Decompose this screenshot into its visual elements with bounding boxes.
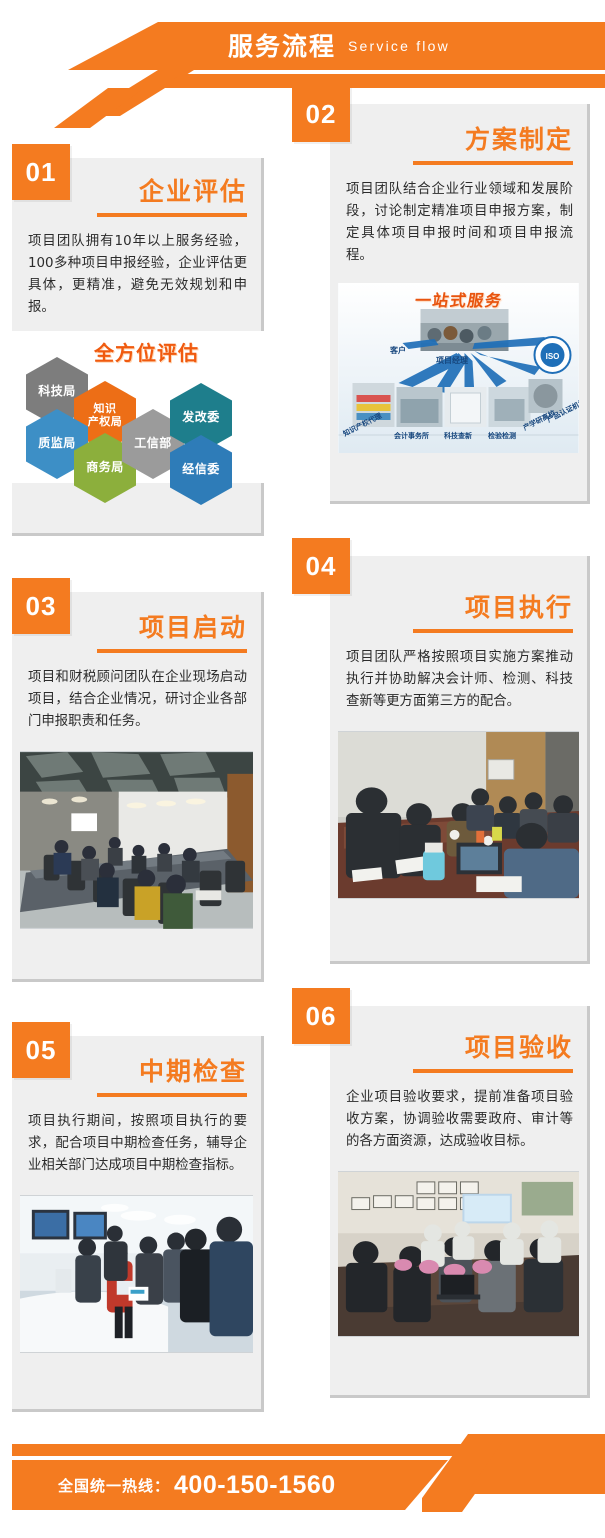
card-title-02: 方案制定: [330, 126, 587, 154]
svg-text:ISO: ISO: [546, 352, 560, 361]
photo-illustration-acceptance-meeting: [338, 1171, 579, 1337]
hotline-label: 全国统一热线：: [58, 1475, 170, 1496]
card-body-02: 项目团队结合企业行业领域和发展阶段，讨论制定精准项目申报方案，制定具体项目申报时…: [330, 165, 587, 279]
page-footer: 全国统一热线： 400-150-1560: [0, 1434, 605, 1538]
one-stop-center-label: 项目经理: [436, 355, 468, 366]
card-photo-04: [338, 731, 579, 899]
card-number-badge-04: 04: [292, 538, 350, 594]
process-card-02[interactable]: 02 方案制定 项目团队结合企业行业领域和发展阶段，讨论制定精准项目申报方案，制…: [330, 104, 590, 504]
card-photo-05: [20, 1195, 253, 1353]
process-card-03[interactable]: 03 项目启动 项目和财税顾问团队在企业现场启动项目，结合企业情况，研讨企业各部…: [12, 592, 264, 982]
card-body-05: 项目执行期间，按照项目执行的要求，配合项目中期检查任务，辅导企业相关部门达成项目…: [12, 1097, 261, 1189]
card-number-badge-02: 02: [292, 86, 350, 142]
header-title-en: Service flow: [348, 39, 450, 54]
process-card-05[interactable]: 05 中期检查 项目执行期间，按照项目执行的要求，配合项目中期检查任务，辅导企业…: [12, 1036, 264, 1412]
one-stop-node-1: 会计事务所: [394, 431, 429, 441]
card-number-badge-03: 03: [12, 578, 70, 634]
card-photo-06: [338, 1171, 579, 1337]
process-card-06[interactable]: 06 项目验收 企业项目验收要求，提前准备项目验收方案，协调验收需要政府、审计等…: [330, 1006, 590, 1398]
photo-illustration-meeting-room: [20, 751, 253, 929]
one-stop-service-diagram: 一站式服务: [338, 283, 579, 453]
header-title-group: 服务流程 Service flow: [0, 22, 605, 70]
hotline-group: 全国统一热线： 400-150-1560: [58, 1460, 336, 1510]
card-body-01: 项目团队拥有10年以上服务经验，100多种项目申报经验，企业评估更具体，更精准，…: [12, 217, 261, 331]
card-row-2: 03 项目启动 项目和财税顾问团队在企业现场启动项目，结合企业情况，研讨企业各部…: [0, 556, 605, 1006]
process-card-grid: 01 企业评估 项目团队拥有10年以上服务经验，100多种项目申报经验，企业评估…: [0, 104, 605, 1436]
card-row-3: 05 中期检查 项目执行期间，按照项目执行的要求，配合项目中期检查任务，辅导企业…: [0, 1006, 605, 1436]
card-body-03: 项目和财税顾问团队在企业现场启动项目，结合企业情况，研讨企业各部门申报职责和任务…: [12, 653, 261, 745]
card-title-04: 项目执行: [330, 594, 587, 622]
process-card-04[interactable]: 04 项目执行 项目团队严格按照项目实施方案推动执行并协助解决会计师、检测、科技…: [330, 556, 590, 964]
hex-diagram-title: 全方位评估: [94, 337, 199, 366]
photo-illustration-workshop: [338, 731, 579, 899]
card-photo-03: [20, 751, 253, 929]
card-title-06: 项目验收: [330, 1034, 587, 1062]
one-stop-client-label: 客户: [390, 345, 406, 356]
hotline-number[interactable]: 400-150-1560: [174, 1471, 336, 1500]
one-stop-title: 一站式服务: [413, 287, 504, 311]
one-stop-node-3: 检验检测: [488, 431, 516, 441]
card-body-06: 企业项目验收要求，提前准备项目验收方案，协调验收需要政府、审计等的各方面资源，达…: [330, 1073, 587, 1165]
process-card-01[interactable]: 01 企业评估 项目团队拥有10年以上服务经验，100多种项目申报经验，企业评估…: [12, 158, 264, 536]
card-body-04: 项目团队严格按照项目实施方案推动执行并协助解决会计师、检测、科技查新等更方面第三…: [330, 633, 587, 725]
card-row-1: 01 企业评估 项目团队拥有10年以上服务经验，100多种项目申报经验，企业评估…: [0, 104, 605, 556]
card-number-badge-01: 01: [12, 144, 70, 200]
card-number-badge-06: 06: [292, 988, 350, 1044]
header-title-cn: 服务流程: [228, 34, 336, 59]
photo-illustration-showroom: [20, 1195, 253, 1353]
one-stop-node-2: 科技查新: [444, 431, 472, 441]
card-number-badge-05: 05: [12, 1022, 70, 1078]
hex-assessment-diagram: 全方位评估 科技局 知识产权局 质监局 商务局 工信部 发改委 经信委: [12, 331, 264, 483]
